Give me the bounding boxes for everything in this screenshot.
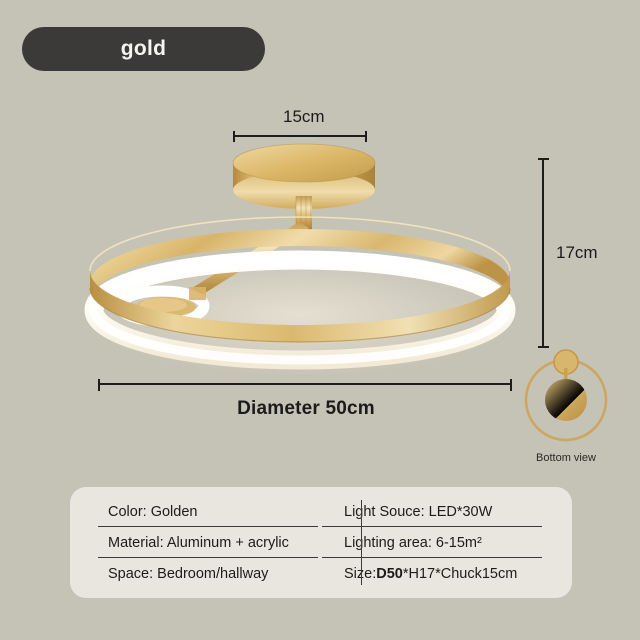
- dim-cap-right: [365, 131, 367, 142]
- spec-cell-color: Color: Golden: [98, 496, 322, 527]
- dimension-label-top-width: 15cm: [283, 107, 325, 127]
- dim-cap-bottom: [538, 346, 549, 348]
- spec-text-bold: D50: [376, 566, 403, 582]
- dim-bar: [542, 158, 544, 348]
- spec-cell-light-source: Light Souce: LED*30W: [322, 496, 546, 527]
- dimension-line-height: [538, 158, 549, 348]
- specification-panel: Color: Golden Light Souce: LED*30W Mater…: [70, 487, 572, 598]
- dim-bar: [233, 135, 367, 137]
- spec-cell-lighting-area: Lighting area: 6-15m²: [322, 527, 546, 558]
- spec-text: Material: Aluminum + acrylic: [108, 535, 289, 551]
- spec-text: Space: Bedroom/hallway: [108, 566, 268, 582]
- spec-text-suffix: *H17*Chuck15cm: [403, 566, 517, 582]
- spec-cell-material: Material: Aluminum + acrylic: [98, 527, 322, 558]
- spec-cell-space: Space: Bedroom/hallway: [98, 558, 322, 589]
- dimension-line-diameter: [98, 379, 512, 390]
- dim-cap-right: [510, 379, 512, 391]
- spec-text: Light Souce: LED*30W: [344, 504, 492, 520]
- specification-table: Color: Golden Light Souce: LED*30W Mater…: [98, 496, 546, 589]
- dim-cap-left: [98, 379, 100, 391]
- bottom-view-group: Bottom view: [516, 358, 616, 464]
- spec-text: Lighting area: 6-15m²: [344, 535, 482, 551]
- dimension-label-height: 17cm: [556, 243, 598, 263]
- spec-text: Color: Golden: [108, 504, 197, 520]
- bottom-view-label: Bottom view: [516, 452, 616, 464]
- table-vertical-divider: [361, 500, 362, 585]
- product-spec-image: gold 15cm 17cm Diameter 50cm Bottom view…: [0, 0, 640, 640]
- color-badge[interactable]: gold: [22, 27, 265, 71]
- dim-bar: [98, 383, 512, 385]
- spec-cell-size: Size: D50*H17*Chuck15cm: [322, 558, 546, 589]
- dimension-line-top-width: [233, 131, 367, 141]
- color-badge-label: gold: [121, 37, 167, 61]
